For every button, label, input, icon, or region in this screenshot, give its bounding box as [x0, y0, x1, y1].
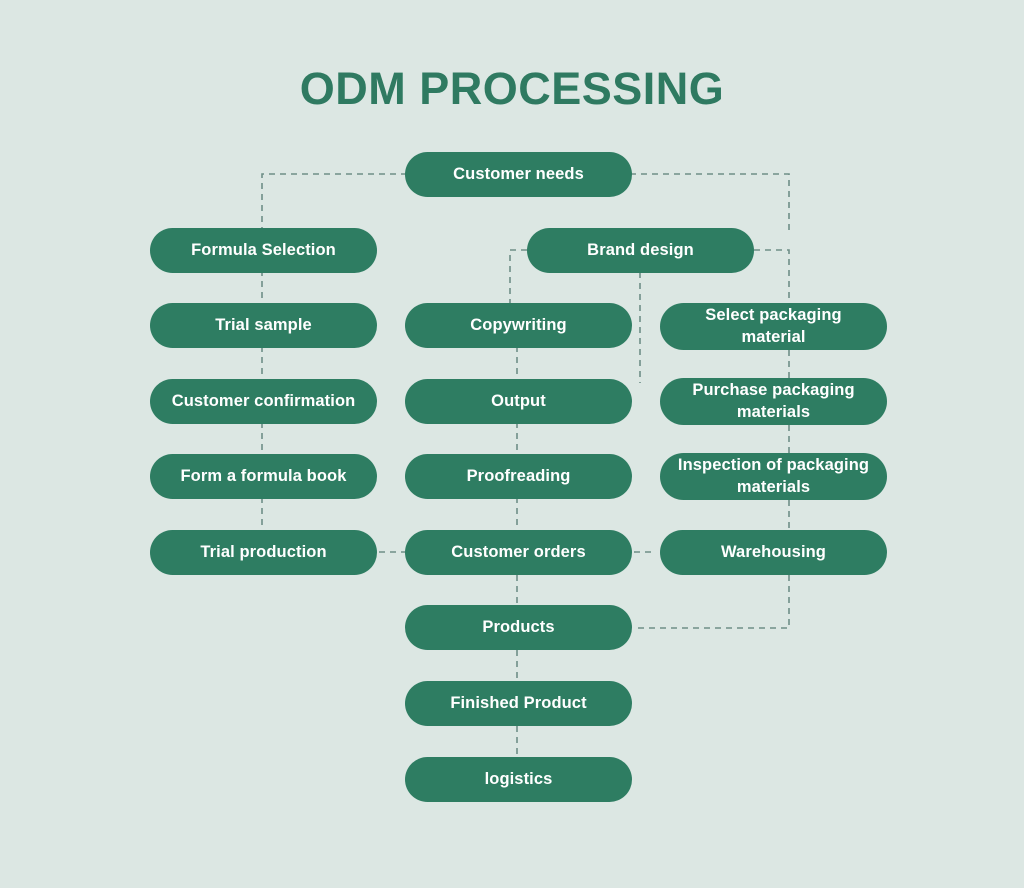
flow-node-warehousing[interactable]: Warehousing: [660, 530, 887, 575]
flowchart-canvas: ODM PROCESSING Customer needsFormula Sel…: [0, 0, 1024, 888]
flow-node-label: Form a formula book: [162, 466, 365, 487]
flow-node-output[interactable]: Output: [405, 379, 632, 424]
flow-node-brand-design[interactable]: Brand design: [527, 228, 754, 273]
flow-node-label: Customer needs: [417, 164, 620, 185]
flow-node-products[interactable]: Products: [405, 605, 632, 650]
flow-node-label: Customer orders: [417, 542, 620, 563]
flow-node-inspection-packaging[interactable]: Inspection of packaging materials: [660, 453, 887, 500]
flow-node-logistics[interactable]: logistics: [405, 757, 632, 802]
flow-node-label: Purchase packaging materials: [672, 380, 875, 422]
flow-node-label: Trial sample: [162, 315, 365, 336]
flow-node-label: Brand design: [539, 240, 742, 261]
flow-node-customer-confirmation[interactable]: Customer confirmation: [150, 379, 377, 424]
flow-node-label: Formula Selection: [162, 240, 365, 261]
flow-node-trial-production[interactable]: Trial production: [150, 530, 377, 575]
flow-node-copywriting[interactable]: Copywriting: [405, 303, 632, 348]
flow-node-purchase-packaging[interactable]: Purchase packaging materials: [660, 378, 887, 425]
flow-node-customer-needs[interactable]: Customer needs: [405, 152, 632, 197]
flow-node-label: Output: [417, 391, 620, 412]
flow-node-label: Select packaging material: [672, 305, 875, 347]
flow-node-label: Copywriting: [417, 315, 620, 336]
flow-node-proofreading[interactable]: Proofreading: [405, 454, 632, 499]
flow-node-label: Trial production: [162, 542, 365, 563]
flow-node-label: Proofreading: [417, 466, 620, 487]
flow-node-label: logistics: [417, 769, 620, 790]
flow-node-finished-product[interactable]: Finished Product: [405, 681, 632, 726]
flow-node-label: Customer confirmation: [162, 391, 365, 412]
flow-node-label: Warehousing: [672, 542, 875, 563]
flow-node-customer-orders[interactable]: Customer orders: [405, 530, 632, 575]
flow-node-label: Products: [417, 617, 620, 638]
flow-node-label: Finished Product: [417, 693, 620, 714]
node-layer: Customer needsFormula SelectionBrand des…: [0, 0, 1024, 888]
flow-node-trial-sample[interactable]: Trial sample: [150, 303, 377, 348]
flow-node-formula-selection[interactable]: Formula Selection: [150, 228, 377, 273]
flow-node-formula-book[interactable]: Form a formula book: [150, 454, 377, 499]
flow-node-label: Inspection of packaging materials: [672, 455, 875, 497]
flow-node-select-packaging[interactable]: Select packaging material: [660, 303, 887, 350]
